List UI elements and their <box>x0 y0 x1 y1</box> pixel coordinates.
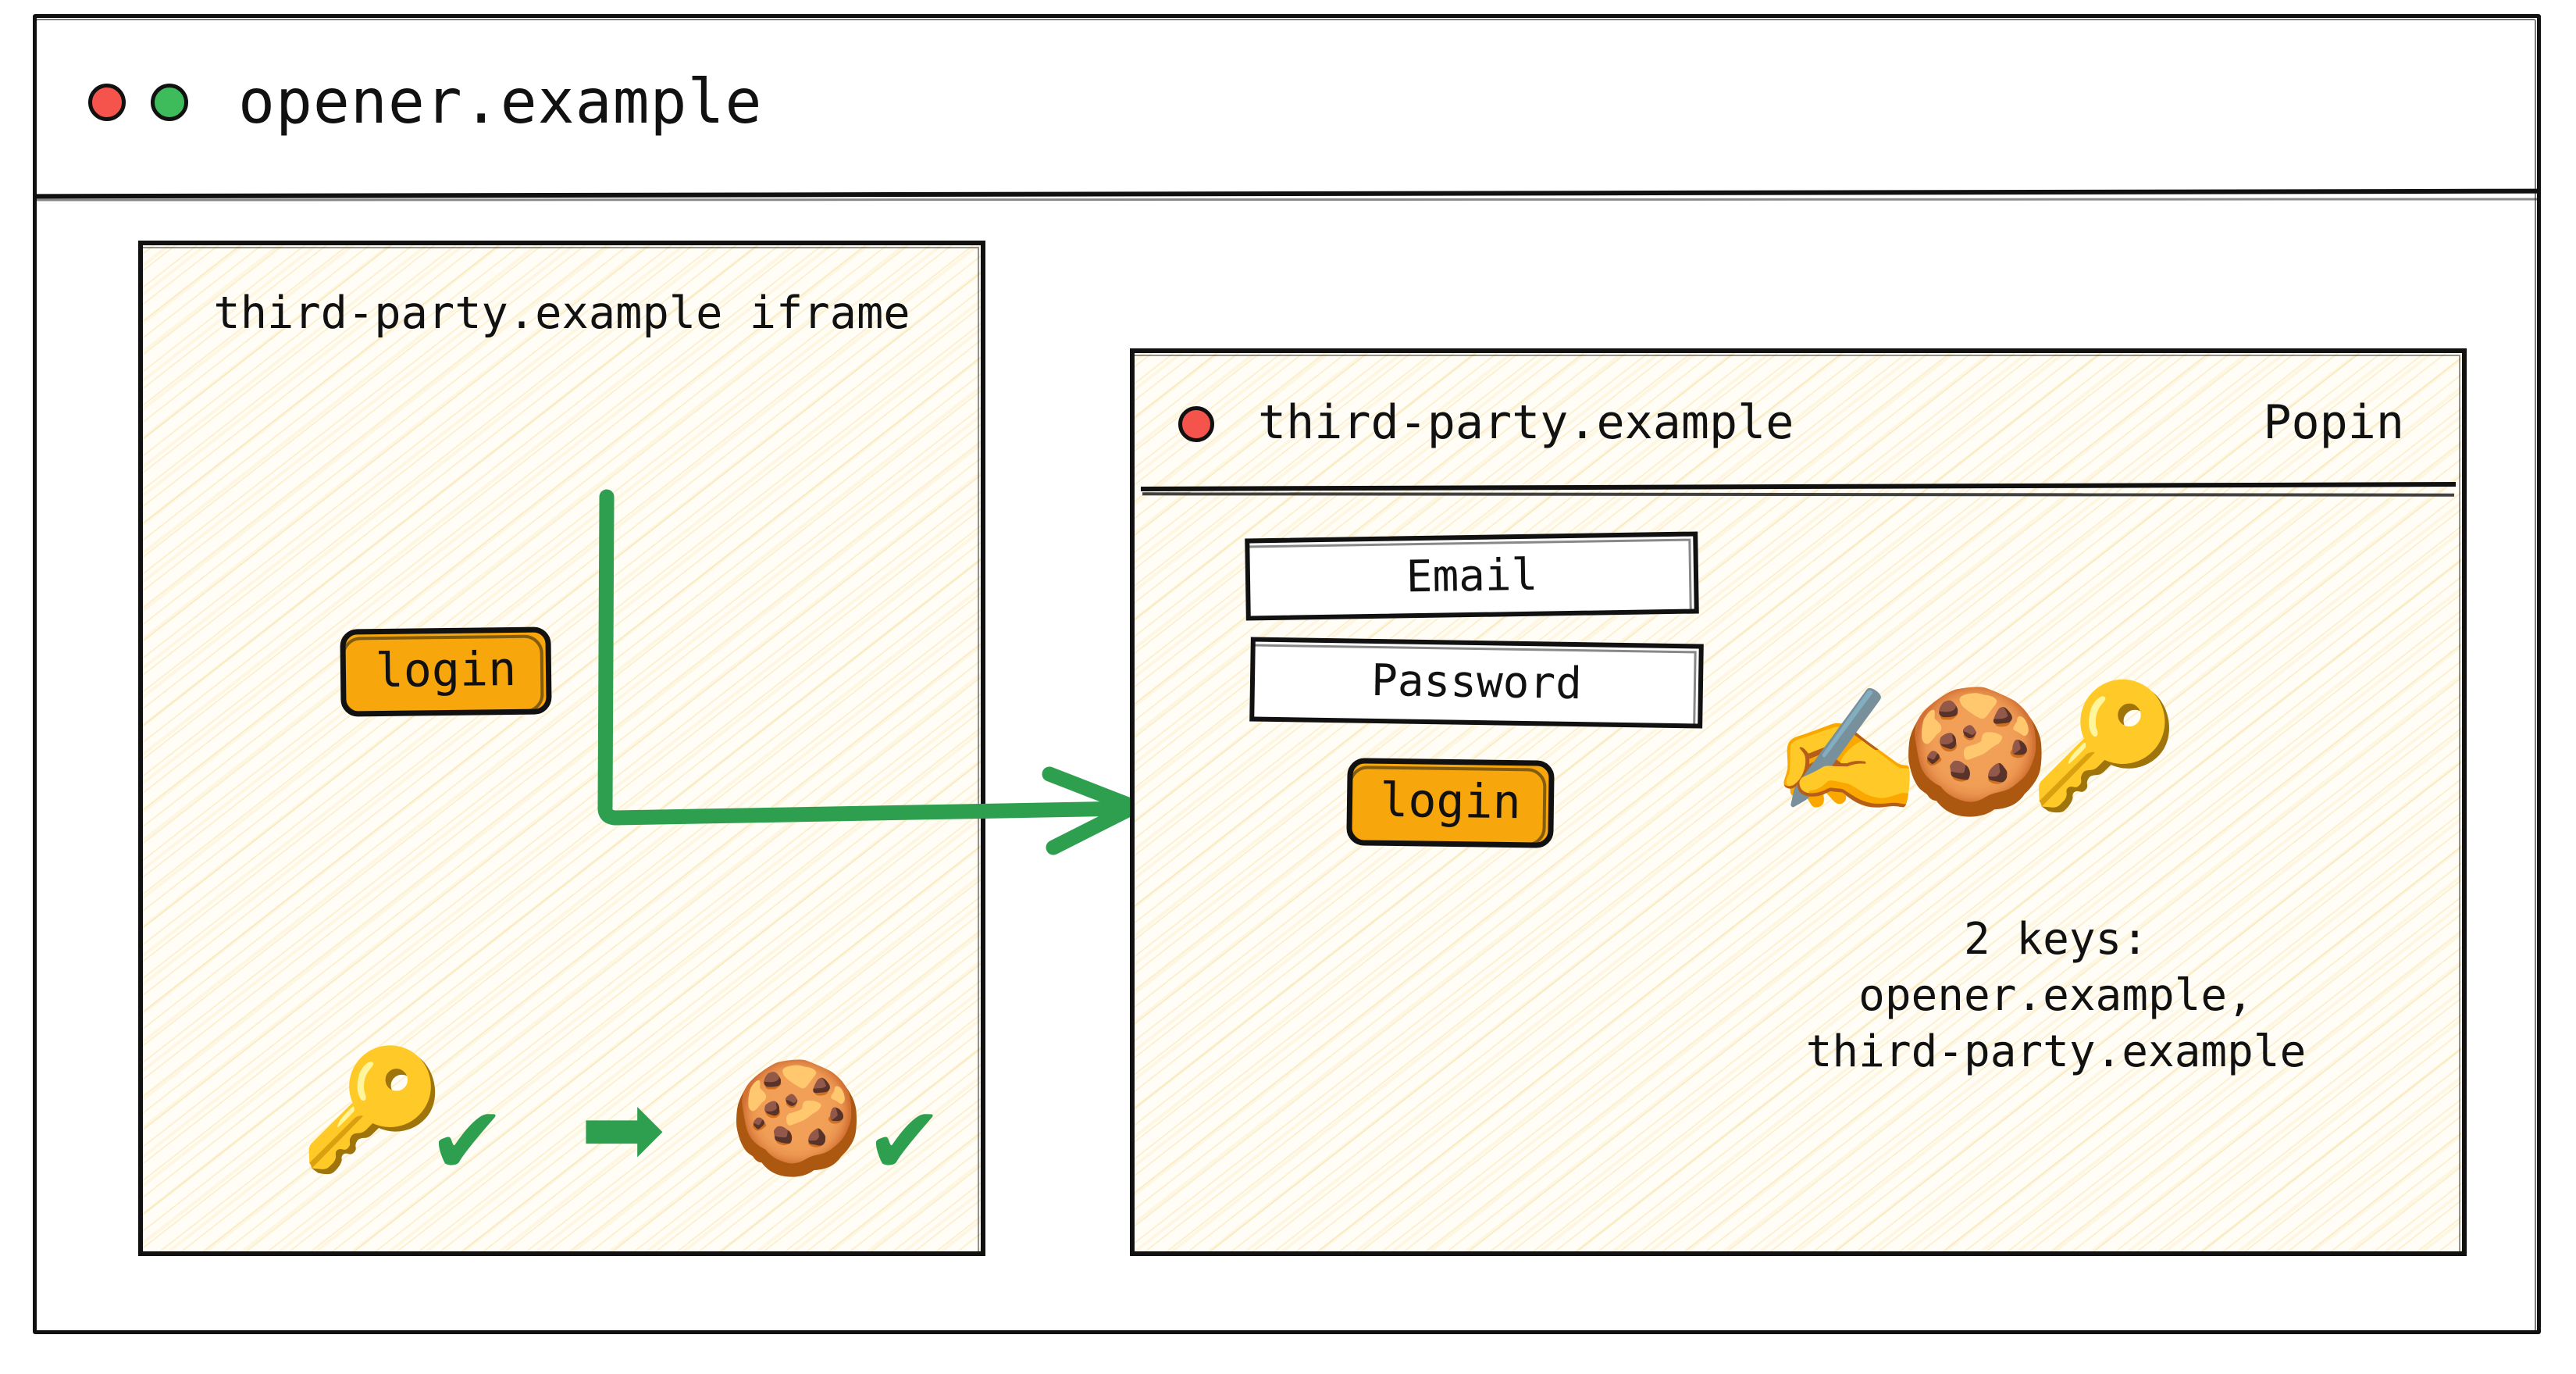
password-field[interactable]: Password <box>1249 637 1704 728</box>
cookie-check-icon: ✔ <box>865 1095 944 1189</box>
popin-header: third-party.example Popin <box>1135 353 2462 478</box>
email-field[interactable]: Email <box>1245 531 1699 620</box>
key-icon: 🔑 <box>2029 685 2179 806</box>
cookie-icon: 🍪 <box>729 1064 864 1173</box>
popin-type-label: Popin <box>2263 387 2404 459</box>
key-icon: 🔑 <box>299 1051 445 1169</box>
popin-header-divider <box>1141 482 2456 491</box>
iframe-storage-status-row: 🔑 ✔ ➡ 🍪 ✔ <box>182 1017 963 1204</box>
popin-panel: third-party.example Popin Email Password… <box>1130 348 2467 1256</box>
window-close-dot[interactable] <box>88 84 126 121</box>
email-field-label: Email <box>1406 553 1537 599</box>
popin-login-button-label: login <box>1380 777 1521 826</box>
iframe-login-button[interactable]: login <box>340 626 551 716</box>
browser-titlebar: opener.example <box>37 18 2537 191</box>
window-title: opener.example <box>238 63 762 141</box>
popin-keys-note: 2 keys: opener.example, third-party.exam… <box>1673 912 2439 1080</box>
arrow-right-icon: ➡ <box>580 1078 665 1179</box>
password-field-label: Password <box>1371 659 1583 706</box>
popin-close-dot[interactable] <box>1178 406 1214 442</box>
browser-window: opener.example third-party.example ifram… <box>33 14 2541 1334</box>
third-party-iframe-panel: third-party.example iframe login 🔑 ✔ ➡ 🍪… <box>138 241 985 1256</box>
iframe-login-button-label: login <box>375 646 516 694</box>
window-maximize-dot[interactable] <box>151 84 188 121</box>
popin-login-button[interactable]: login <box>1346 758 1555 848</box>
key-check-icon: ✔ <box>428 1095 507 1189</box>
popin-origin-label: third-party.example <box>1258 387 1794 459</box>
iframe-title: third-party.example iframe <box>143 286 981 341</box>
